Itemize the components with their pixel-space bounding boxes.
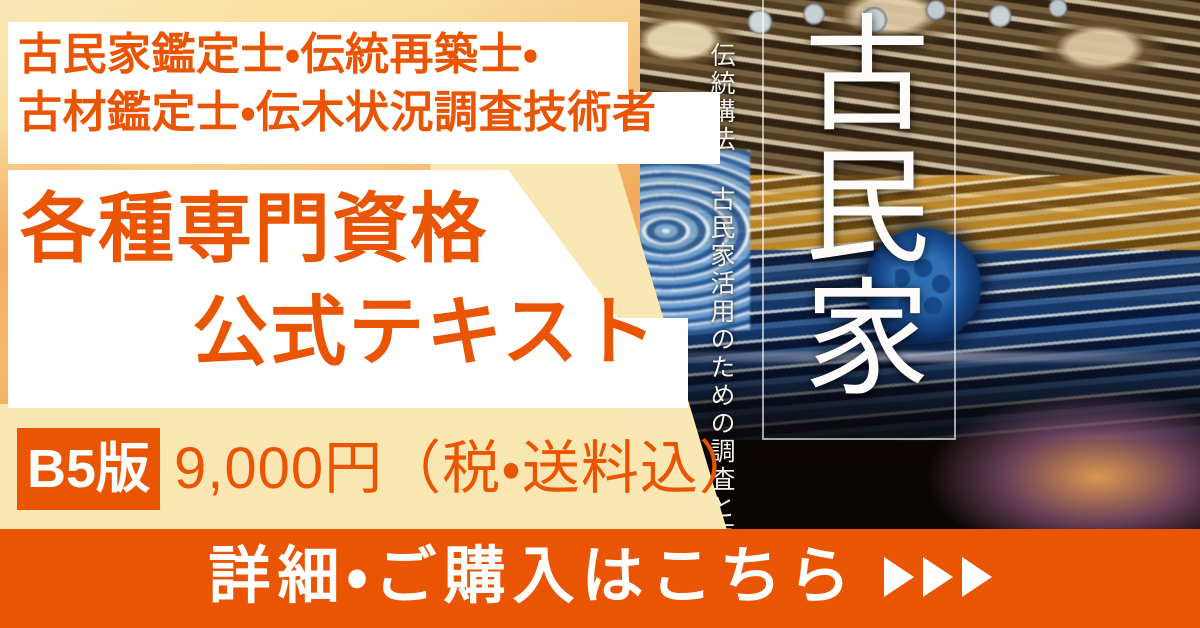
cta-label: 詳細・ご購入はこちら bbox=[208, 546, 857, 612]
cta-content[interactable]: 詳細・ご購入はこちら bbox=[0, 529, 1200, 628]
headline-text: 古民家鑑定士・伝統再築士・ 古材鑑定士・伝木状況調査技術者 bbox=[18, 26, 718, 142]
title-line-2: 公式テキスト bbox=[20, 281, 680, 384]
headline-line-2: 古材鑑定士・伝木状況調査技術者 bbox=[18, 84, 718, 142]
format-badge: B5版 bbox=[17, 428, 160, 510]
promo-banner: 古民家 伝統構法 古民家活用のための調査と再生の 古民家鑑定士・伝統再築士・ 古… bbox=[0, 0, 1200, 628]
title-text: 各種専門資格 公式テキスト bbox=[20, 178, 680, 385]
arrow-right-icon bbox=[962, 557, 992, 597]
cta-arrows bbox=[884, 557, 992, 601]
title-line-1: 各種専門資格 bbox=[20, 178, 680, 281]
headline-line-1: 古民家鑑定士・伝統再築士・ bbox=[18, 26, 718, 84]
arrow-right-icon bbox=[884, 557, 914, 597]
arrow-right-icon bbox=[923, 557, 953, 597]
price-text: 9,000円（税・送料込） bbox=[174, 430, 758, 508]
cover-title-text: 古民家 bbox=[786, 8, 926, 404]
